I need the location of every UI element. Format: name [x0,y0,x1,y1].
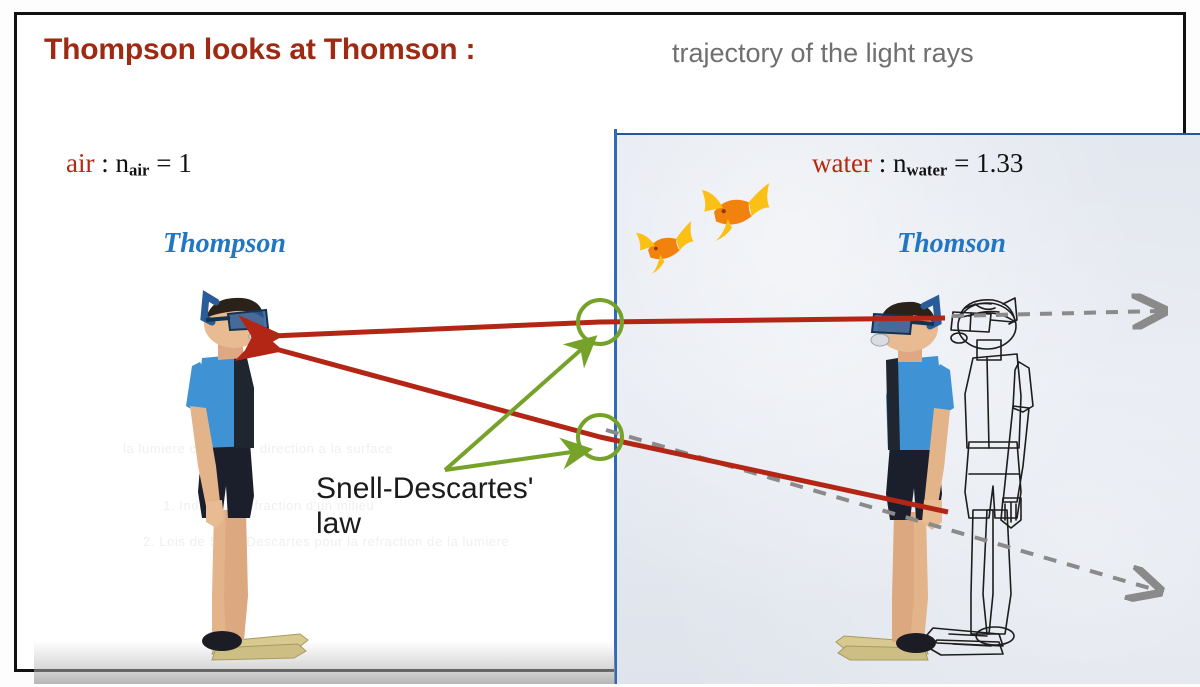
air-index-label: air : nair = 1 [66,148,192,181]
observer-illustration [172,296,332,666]
snell-law-line-1: Snell-Descartes' [316,472,616,507]
air-index-symbol: n [116,148,130,178]
virtual-image-illustration [925,298,1065,668]
water-index-label: water : nwater = 1.33 [812,148,1023,181]
water-index-value: 1.33 [976,148,1023,178]
water-index-subscript: water [906,161,947,180]
air-separator: : [94,148,115,178]
subtitle: trajectory of the light rays [672,38,974,69]
observed-name-label: Thomson [897,228,1006,260]
water-separator: : [872,148,893,178]
virtual-image-figure [925,298,1065,668]
snell-law-annotation: Snell-Descartes' law [316,472,616,542]
water-medium-name: water [812,148,872,178]
water-index-symbol: n [893,148,907,178]
air-index-subscript: air [129,161,149,180]
snell-law-line-2: law [316,507,616,542]
water-surface-line [614,129,617,684]
water-equals: = [947,148,976,178]
air-index-value: 1 [178,148,192,178]
observer-name-label: Thompson [163,228,286,260]
observer-figure [172,296,332,666]
slide-root: comme un rayon lumineux qui se propage d… [0,0,1200,687]
air-equals: = [149,148,178,178]
air-medium-name: air [66,148,94,178]
page-title: Thompson looks at Thomson : [44,33,475,67]
